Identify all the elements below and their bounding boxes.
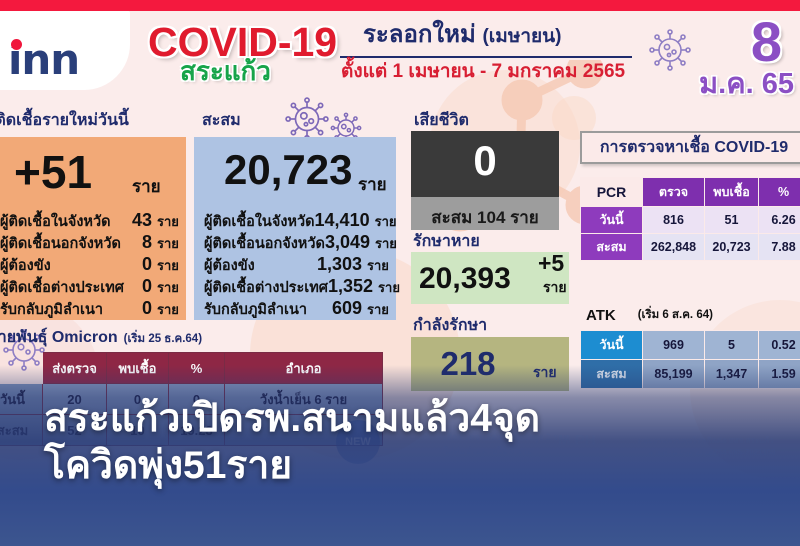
- pcr-label: PCR: [597, 184, 627, 200]
- news-caption-line1: สระแก้วเปิดรพ.สนามแล้ว4จุด: [44, 398, 784, 439]
- treating-caption: กำลังรักษา: [413, 318, 487, 334]
- accumulated-row: ผู้ติดเชื้อต่างประเทศ 1,352 ราย: [194, 276, 396, 299]
- table-row: สะสม 262,848 20,723 7.88: [581, 234, 800, 261]
- page-title-province: สระแก้ว: [180, 58, 271, 84]
- accumulated-caption: สะสม: [202, 113, 241, 129]
- deaths-accum-panel: สะสม 104 ราย: [411, 197, 559, 230]
- omicron-header: สายพันธุ์ Omicron (เริ่ม 25 ธ.ค.64): [0, 325, 408, 347]
- row-label: วันนี้: [581, 207, 643, 234]
- news-caption-line2: โควิดพุ่ง51ราย: [44, 445, 784, 486]
- row-label: ผู้ติดเชื้อในจังหวัด: [204, 210, 315, 233]
- row-label: ผู้ติดเชื้อต่างประเทศ: [0, 276, 142, 299]
- omicron-title: สายพันธุ์ Omicron: [0, 325, 118, 350]
- recovered-delta: +5: [538, 252, 564, 275]
- row-unit: ราย: [373, 277, 400, 298]
- new-cases-row: ผู้ติดเชื้อในจังหวัด 43 ราย: [0, 210, 186, 233]
- new-cases-total: +51: [14, 149, 92, 195]
- accumulated-row: รับกลับภูมิลำเนา 609 ราย: [194, 298, 396, 321]
- logo-plate: inn: [0, 11, 130, 90]
- row-unit: ราย: [362, 255, 392, 276]
- row-label: ผู้ติดเชื้อนอกจังหวัด: [0, 232, 142, 255]
- cell-value: 262,848: [643, 234, 705, 261]
- wave-title: ระลอกใหม่ (เมษายน): [363, 23, 561, 47]
- new-cases-total-unit: ราย: [132, 173, 161, 200]
- cell-value: 969: [643, 331, 705, 360]
- deaths-today-value: 0: [411, 140, 559, 182]
- new-cases-panel: +51 ราย ผู้ติดเชื้อในจังหวัด 43 ราย ผู้ต…: [0, 137, 186, 320]
- new-cases-row: ผู้ติดเชื้อต่างประเทศ 0 ราย: [0, 276, 186, 299]
- cell-value: 816: [643, 207, 705, 234]
- row-value: 1,303: [317, 254, 362, 275]
- atk-header: ATK (เริ่ม 6 ส.ค. 64): [586, 305, 800, 325]
- row-value: 0: [142, 298, 152, 319]
- row-unit: ราย: [152, 299, 182, 320]
- cell-value: 6.26: [759, 207, 800, 234]
- table-header-row: PCR ตรวจ พบเชื้อ %: [581, 178, 800, 207]
- row-unit: ราย: [370, 233, 397, 254]
- row-unit: ราย: [152, 211, 182, 232]
- row-label: สะสม: [581, 234, 643, 261]
- accumulated-row: ผู้ติดเชื้อในจังหวัด 14,410 ราย: [194, 210, 396, 233]
- header-divider: [340, 56, 632, 58]
- row-label: ผู้ติดเชื้อต่างประเทศ: [204, 276, 328, 299]
- row-unit: ราย: [152, 277, 182, 298]
- cell-value: 0.52: [759, 331, 800, 360]
- infographic-canvas: inn COVID-19 สระแก้ว ระลอกใหม่ (เมษายน) …: [0, 0, 800, 546]
- cell-value: 5: [705, 331, 759, 360]
- new-cases-row: ผู้ต้องขัง 0 ราย: [0, 254, 186, 277]
- row-value: 14,410: [315, 210, 370, 231]
- new-cases-row: ผู้ติดเชื้อนอกจังหวัด 8 ราย: [0, 232, 186, 255]
- logo-dot-icon: [11, 39, 22, 50]
- wave-title-main: ระลอกใหม่: [363, 21, 476, 48]
- testing-header-box: การตรวจหาเชื้อ COVID-19: [580, 131, 800, 164]
- column-header: พบเชื้อ: [705, 178, 759, 207]
- row-value: 609: [332, 298, 362, 319]
- accumulated-row: ผู้ต้องขัง 1,303 ราย: [194, 254, 396, 277]
- cell-value: 7.88: [759, 234, 800, 261]
- row-label: ผู้ติดเชื้อในจังหวัด: [0, 210, 132, 233]
- wave-title-sub: (เมษายน): [482, 26, 561, 47]
- row-value: 3,049: [325, 232, 370, 253]
- row-label: รับกลับภูมิลำเนา: [0, 298, 142, 321]
- row-unit: ราย: [152, 233, 182, 254]
- row-value: 43: [132, 210, 152, 231]
- recovered-total: 20,393: [419, 264, 511, 294]
- atk-label: ATK: [586, 307, 616, 324]
- table-row: วันนี้ 969 5 0.52: [581, 331, 800, 360]
- deaths-panel: 0: [411, 131, 559, 197]
- row-label: รับกลับภูมิลำเนา: [204, 298, 332, 321]
- accumulated-panel: 20,723 ราย ผู้ติดเชื้อในจังหวัด 14,410 ร…: [194, 137, 396, 320]
- recovered-caption: รักษาหาย: [413, 234, 480, 250]
- row-unit: ราย: [152, 255, 182, 276]
- accumulated-total-unit: ราย: [358, 171, 387, 198]
- virus-icon: [284, 96, 330, 142]
- cell-value: 20,723: [705, 234, 759, 261]
- column-header: %: [759, 178, 800, 207]
- omicron-note: (เริ่ม 25 ธ.ค.64): [124, 330, 202, 348]
- row-label: ผู้ต้องขัง: [0, 254, 142, 277]
- accumulated-total: 20,723: [224, 149, 352, 191]
- row-unit: ราย: [362, 299, 392, 320]
- pcr-table: PCR ตรวจ พบเชื้อ % วันนี้ 816 51 6.26 สะ…: [580, 177, 800, 261]
- new-cases-row: รับกลับภูมิลำเนา 0 ราย: [0, 298, 186, 321]
- date-range-label: ตั้งแต่ 1 เมษายน - 7 มกราคม 2565: [341, 62, 625, 81]
- row-label: ผู้ต้องขัง: [204, 254, 317, 277]
- deaths-accum-text: สะสม 104 ราย: [411, 204, 559, 231]
- report-day: 8: [751, 14, 782, 70]
- new-cases-caption: ผู้ติดเชื้อรายใหม่วันนี้: [0, 113, 129, 129]
- cell-value: 51: [705, 207, 759, 234]
- testing-header-label: การตรวจหาเชื้อ COVID-19: [600, 135, 788, 160]
- report-month-year: ม.ค. 65: [699, 70, 794, 99]
- top-accent-bar: [0, 0, 800, 11]
- row-label: ผู้ติดเชื้อนอกจังหวัด: [204, 232, 325, 255]
- deaths-caption: เสียชีวิต: [414, 113, 469, 129]
- row-value: 0: [142, 254, 152, 275]
- row-value: 1,352: [328, 276, 373, 297]
- recovered-unit: ราย: [543, 277, 567, 299]
- column-header: ตรวจ: [643, 178, 705, 207]
- row-unit: ราย: [370, 211, 397, 232]
- row-value: 0: [142, 276, 152, 297]
- virus-icon: [648, 28, 692, 72]
- news-caption: สระแก้วเปิดรพ.สนามแล้ว4จุด โควิดพุ่ง51รา…: [44, 398, 784, 487]
- row-value: 8: [142, 232, 152, 253]
- atk-note: (เริ่ม 6 ส.ค. 64): [638, 306, 713, 324]
- accumulated-row: ผู้ติดเชื้อนอกจังหวัด 3,049 ราย: [194, 232, 396, 255]
- row-label: วันนี้: [581, 331, 643, 360]
- table-row: วันนี้ 816 51 6.26: [581, 207, 800, 234]
